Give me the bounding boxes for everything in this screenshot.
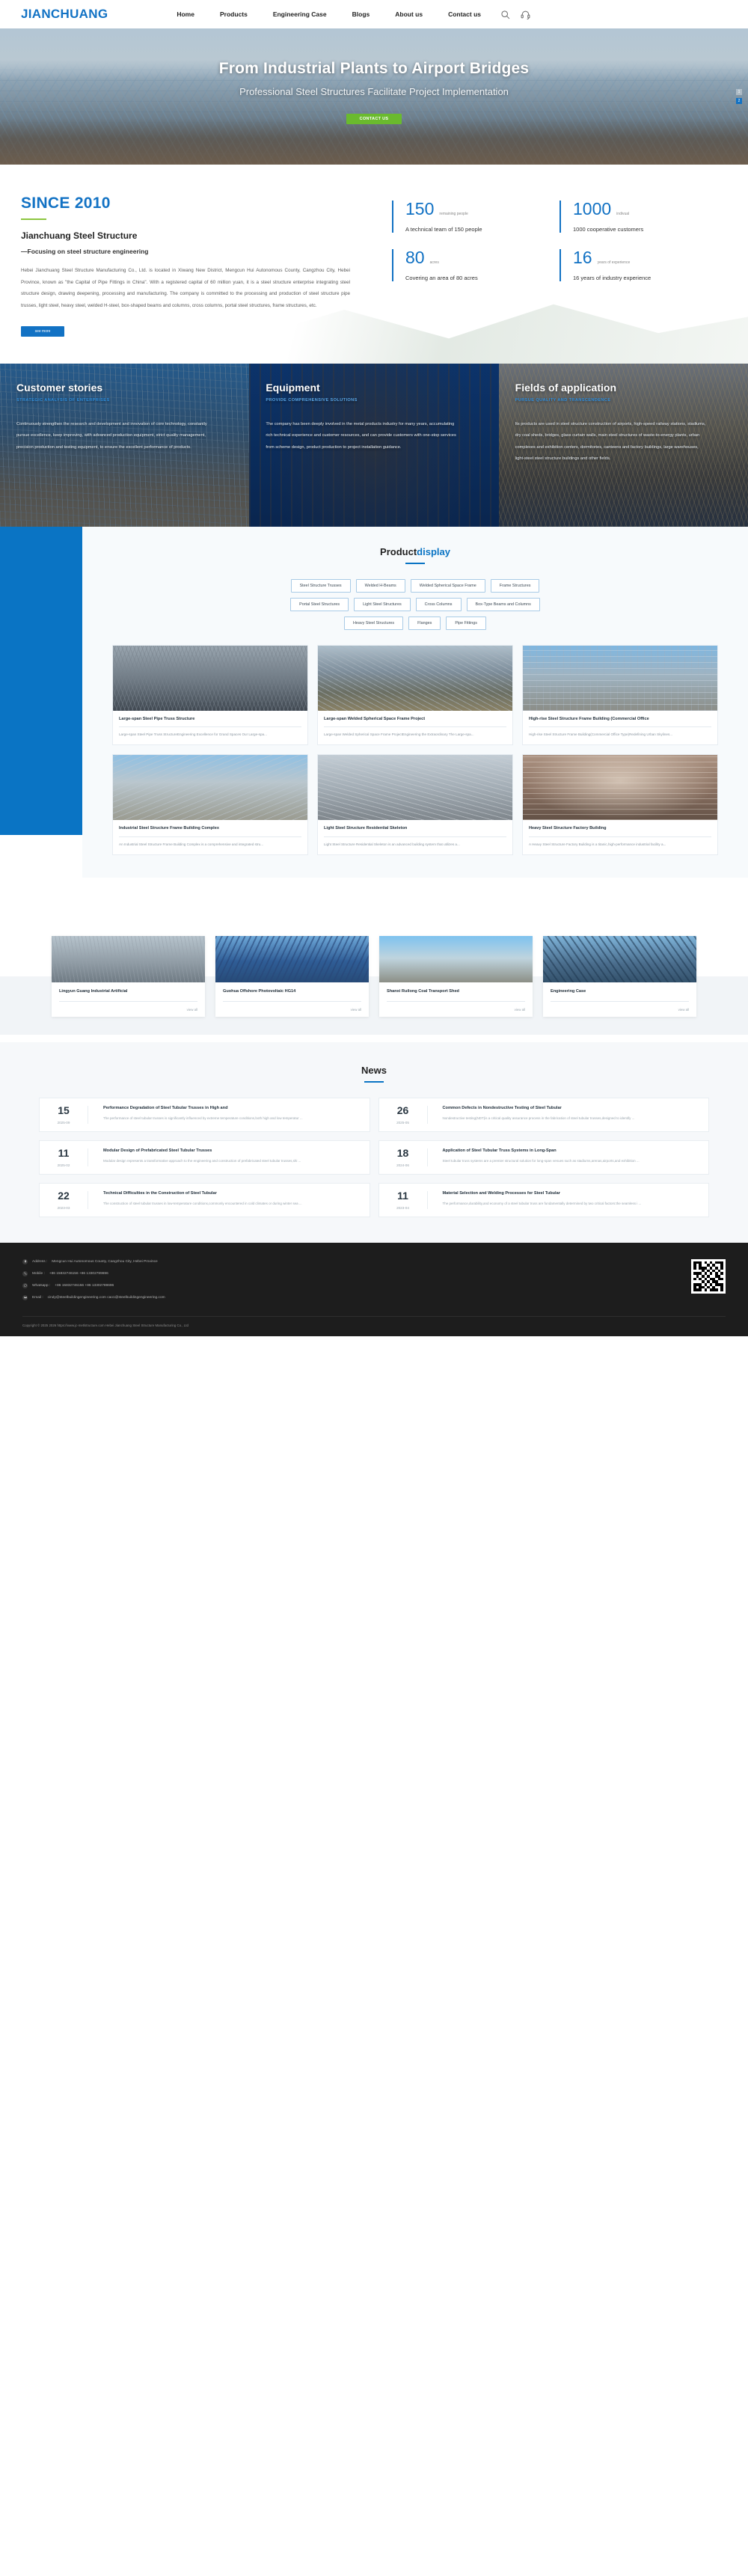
product-title-underline bbox=[405, 563, 425, 564]
stat-unit: acres bbox=[430, 260, 439, 265]
news-year-month: 2025-05 bbox=[387, 1121, 419, 1125]
envelope-icon bbox=[22, 1295, 28, 1300]
feature-card-customer-stories[interactable]: Customer stories STRATEGIC ANALYSIS OF E… bbox=[0, 364, 249, 527]
news-section: News 15 2025-09 Performance Degradation … bbox=[0, 1042, 748, 1243]
company-tagline: —Focusing on steel structure engineering bbox=[21, 248, 373, 255]
hero-subtitle: Professional Steel Structures Facilitate… bbox=[0, 86, 748, 97]
news-date: 15 2025-09 bbox=[48, 1105, 79, 1125]
footer-email-value[interactable]: cindy@steelbuildingengineering.com cao1@… bbox=[48, 1296, 165, 1300]
product-card[interactable]: Heavy Steel Structure Factory Building A… bbox=[522, 754, 718, 854]
news-date: 26 2025-05 bbox=[387, 1105, 419, 1125]
news-headline: Modular Design of Prefabricated Steel Tu… bbox=[103, 1148, 361, 1154]
nav-item-about-us[interactable]: About us bbox=[395, 10, 423, 18]
footer-whatsapp-label: Whatsapp : bbox=[32, 1284, 50, 1288]
tag-frame-structures[interactable]: Frame Structures bbox=[491, 579, 540, 593]
news-item[interactable]: 18 2024-06 Application of Steel Tubular … bbox=[378, 1140, 710, 1175]
product-card[interactable]: Large-span Welded Spherical Space Frame … bbox=[317, 645, 513, 745]
stat-item-area: 80 acres Covering an area of 80 acres bbox=[392, 249, 560, 281]
hero-content: From Industrial Plants to Airport Bridge… bbox=[0, 28, 748, 124]
hero-banner: From Industrial Plants to Airport Bridge… bbox=[0, 28, 748, 165]
nav-item-products[interactable]: Products bbox=[220, 10, 248, 18]
card-body: Its products are used in steel structure… bbox=[515, 419, 706, 465]
stat-item-customers: 1000 indivual 1000 cooperative customers bbox=[560, 201, 727, 233]
news-year-month: 2025-09 bbox=[48, 1121, 79, 1125]
divider bbox=[387, 1001, 525, 1002]
main-nav: Home Products Engineering Case Blogs Abo… bbox=[177, 10, 481, 18]
stats-grid: 150 remaining people A technical team of… bbox=[392, 201, 727, 281]
about-paragraph: Hebei Jianchuang Steel Structure Manufac… bbox=[21, 265, 350, 312]
case-name: Engineering Case bbox=[551, 989, 689, 994]
divider bbox=[551, 1001, 689, 1002]
hero-slide-1[interactable]: 1 bbox=[736, 89, 742, 95]
tag-welded-spherical-space-frame[interactable]: Welded Spherical Space Frame bbox=[411, 579, 485, 593]
divider bbox=[88, 1191, 88, 1209]
stat-description: A technical team of 150 people bbox=[405, 226, 560, 233]
card-body: Continuously strengthen the research and… bbox=[16, 419, 207, 453]
case-card[interactable]: Guohua Offshore Photovoltaic HG14 view a… bbox=[215, 936, 369, 1017]
divider bbox=[223, 1001, 361, 1002]
stat-number: 1000 bbox=[573, 201, 611, 218]
stat-description: 16 years of industry experience bbox=[573, 275, 727, 281]
header-icon-group bbox=[500, 10, 530, 19]
news-day: 18 bbox=[387, 1148, 419, 1158]
feature-card-fields-of-application[interactable]: Fields of application PURSUE QUALITY AND… bbox=[499, 364, 748, 527]
product-description: Large-span Welded Spherical Space Frame … bbox=[324, 732, 506, 738]
case-name: Guohua Offshore Photovoltaic HG14 bbox=[223, 989, 361, 994]
news-date: 18 2024-06 bbox=[387, 1148, 419, 1167]
hero-slide-indicators: 1 2 bbox=[736, 89, 742, 104]
news-headline: Common Defects in Nondestructive Testing… bbox=[443, 1105, 701, 1111]
news-grid: 15 2025-09 Performance Degradation of St… bbox=[0, 1098, 748, 1217]
tag-box-type-beams-and-columns[interactable]: Box-Type Beams and Columns bbox=[467, 598, 540, 611]
divider bbox=[88, 1106, 88, 1124]
news-excerpt: Steel tubular truss systems are a premie… bbox=[443, 1158, 701, 1164]
hero-slide-2[interactable]: 2 bbox=[736, 98, 742, 104]
tag-light-steel-structures[interactable]: Light Steel Structures bbox=[354, 598, 411, 611]
product-card[interactable]: Light Steel Structure Residential Skelet… bbox=[317, 754, 513, 854]
tag-steel-structure-trusses[interactable]: Steel Structure Trusses bbox=[291, 579, 351, 593]
news-date: 11 2025-02 bbox=[48, 1148, 79, 1167]
nav-item-blogs[interactable]: Blogs bbox=[352, 10, 370, 18]
product-card[interactable]: High-rise Steel Structure Frame Building… bbox=[522, 645, 718, 745]
case-image bbox=[215, 936, 369, 982]
product-filter-tags: Steel Structure Trusses Welded H-Beams W… bbox=[112, 579, 718, 630]
since-underline bbox=[21, 218, 46, 220]
news-year-month: 2023-03 bbox=[48, 1206, 79, 1210]
product-name: High-rise Steel Structure Frame Building… bbox=[529, 716, 711, 722]
card-title: Fields of application bbox=[515, 382, 732, 394]
cases-row: Lingyun Guang Industrial Artificial view… bbox=[0, 936, 748, 1017]
nav-item-engineering-case[interactable]: Engineering Case bbox=[273, 10, 327, 18]
product-image bbox=[523, 646, 717, 711]
about-text-column: SINCE 2010 Jianchuang Steel Structure —F… bbox=[21, 195, 373, 337]
divider bbox=[324, 726, 506, 727]
news-day: 15 bbox=[48, 1105, 79, 1116]
product-image bbox=[523, 755, 717, 820]
stat-number: 150 bbox=[405, 201, 434, 218]
case-image bbox=[543, 936, 696, 982]
tag-row-2: Portal Steel Structures Light Steel Stru… bbox=[290, 598, 540, 611]
news-excerpt: The performance,durability,and economy o… bbox=[443, 1201, 701, 1207]
product-image bbox=[318, 755, 512, 820]
product-card[interactable]: Large-span Steel Pipe Truss Structure La… bbox=[112, 645, 308, 745]
tag-portal-steel-structures[interactable]: Portal Steel Structures bbox=[290, 598, 349, 611]
news-item[interactable]: 26 2025-05 Common Defects in Nondestruct… bbox=[378, 1098, 710, 1132]
case-card[interactable]: Engineering Case view all bbox=[543, 936, 696, 1017]
engineering-cases-section: Lingyun Guang Industrial Artificial view… bbox=[0, 908, 748, 1042]
news-day: 26 bbox=[387, 1105, 419, 1116]
news-year-month: 2025-02 bbox=[48, 1163, 79, 1167]
news-day: 11 bbox=[387, 1190, 419, 1201]
news-title-underline bbox=[364, 1081, 384, 1083]
case-name: Shanxi Ruilong Coal Transport Shed bbox=[387, 989, 525, 994]
news-day: 11 bbox=[48, 1148, 79, 1158]
since-heading: SINCE 2010 bbox=[21, 195, 373, 212]
case-name: Lingyun Guang Industrial Artificial bbox=[59, 989, 197, 994]
tag-row-3: Heavy Steel Structures Flanges Pipe Fitt… bbox=[344, 617, 486, 630]
case-view-all-link[interactable]: view all bbox=[379, 1005, 533, 1017]
footer-address-label: Address : bbox=[32, 1260, 47, 1264]
location-pin-icon bbox=[22, 1259, 28, 1264]
news-item[interactable]: 11 2023-04 Material Selection and Weldin… bbox=[378, 1183, 710, 1217]
footer-address-line: Address : Mengcun Hui Autonomous County,… bbox=[22, 1259, 691, 1264]
news-date: 22 2023-03 bbox=[48, 1190, 79, 1210]
divider bbox=[119, 836, 301, 837]
news-date: 11 2023-04 bbox=[387, 1190, 419, 1210]
company-name: Jianchuang Steel Structure bbox=[21, 230, 373, 241]
site-header: JIANCHUANG Home Products Engineering Cas… bbox=[0, 0, 748, 28]
hero-title: From Industrial Plants to Airport Bridge… bbox=[0, 60, 748, 78]
tag-welded-h-beams[interactable]: Welded H-Beams bbox=[356, 579, 405, 593]
news-year-month: 2024-06 bbox=[387, 1163, 419, 1167]
footer-email-line: Email : cindy@steelbuildingengineering.c… bbox=[22, 1295, 691, 1300]
qr-code bbox=[691, 1259, 726, 1294]
divider bbox=[324, 836, 506, 837]
news-headline: Performance Degradation of Steel Tubular… bbox=[103, 1105, 361, 1111]
divider bbox=[427, 1106, 428, 1124]
headset-icon[interactable] bbox=[521, 10, 530, 19]
news-item[interactable]: 11 2025-02 Modular Design of Prefabricat… bbox=[39, 1140, 370, 1175]
divider bbox=[119, 726, 301, 727]
divider bbox=[529, 726, 711, 727]
product-title-part-a: Product bbox=[380, 546, 417, 557]
site-logo[interactable]: JIANCHUANG bbox=[21, 7, 108, 22]
divider bbox=[427, 1191, 428, 1209]
product-description: Large-span Steel Pipe Truss StructureEng… bbox=[119, 732, 301, 738]
divider bbox=[59, 1001, 197, 1002]
tag-cross-columns[interactable]: Cross Columns bbox=[416, 598, 462, 611]
tag-pipe-fittings[interactable]: Pipe Fittings bbox=[446, 617, 486, 630]
stat-unit: indivual bbox=[616, 212, 629, 216]
product-title-part-b: display bbox=[417, 546, 450, 557]
footer-email-label: Email : bbox=[32, 1296, 43, 1300]
product-card[interactable]: Industrial Steel Structure Frame Buildin… bbox=[112, 754, 308, 854]
case-view-all-link[interactable]: view all bbox=[543, 1005, 696, 1017]
stat-description: Covering an area of 80 acres bbox=[405, 275, 560, 281]
footer-mobile-label: Mobile : bbox=[32, 1272, 45, 1276]
card-subtitle: PURSUE QUALITY AND TRANSCENDENCE bbox=[515, 398, 732, 403]
product-grid: Large-span Steel Pipe Truss Structure La… bbox=[112, 645, 718, 855]
product-image bbox=[113, 646, 307, 711]
footer-address-value: Mengcun Hui Autonomous County, Cangzhou … bbox=[52, 1260, 157, 1264]
case-card[interactable]: Lingyun Guang Industrial Artificial view… bbox=[52, 936, 205, 1017]
stat-unit: years of experience bbox=[598, 260, 631, 265]
case-view-all-link[interactable]: view all bbox=[52, 1005, 205, 1017]
product-image bbox=[113, 755, 307, 820]
stat-number: 16 bbox=[573, 249, 592, 266]
product-description: Light Steel Structure Residential Skelet… bbox=[324, 842, 506, 848]
site-footer: Address : Mengcun Hui Autonomous County,… bbox=[0, 1243, 748, 1336]
card-body: The company has been deeply involved in … bbox=[266, 419, 456, 453]
stat-unit: remaining people bbox=[439, 212, 467, 216]
product-image bbox=[318, 646, 512, 711]
footer-mobile-value[interactable]: +86 15832746156 +86 13302789696 bbox=[49, 1272, 108, 1276]
nav-item-contact-us[interactable]: Contact us bbox=[448, 10, 481, 18]
feature-cards-section: Customer stories STRATEGIC ANALYSIS OF E… bbox=[0, 364, 748, 527]
case-view-all-link[interactable]: view all bbox=[215, 1005, 369, 1017]
footer-whatsapp-line: Whatsapp : +86 15832746156 +86 133027896… bbox=[22, 1283, 691, 1288]
product-display-title: Productdisplay bbox=[112, 546, 718, 557]
news-excerpt: Modular design represents a transformati… bbox=[103, 1158, 361, 1164]
footer-copyright: Copyright © 2025 2026 https://www.jc-met… bbox=[22, 1316, 726, 1327]
product-description: High-rise Steel Structure Frame Building… bbox=[529, 732, 711, 738]
product-name: Light Steel Structure Residential Skelet… bbox=[324, 825, 506, 831]
news-excerpt: Nondestructive testing(NDT)is a critical… bbox=[443, 1116, 701, 1122]
whatsapp-icon bbox=[22, 1283, 28, 1288]
about-stats-column: 150 remaining people A technical team of… bbox=[373, 195, 727, 337]
see-more-button[interactable]: see more bbox=[21, 326, 64, 337]
news-day: 22 bbox=[48, 1190, 79, 1201]
news-year-month: 2023-04 bbox=[387, 1206, 419, 1210]
nav-item-home[interactable]: Home bbox=[177, 10, 194, 18]
about-section: SINCE 2010 Jianchuang Steel Structure —F… bbox=[0, 165, 748, 364]
case-image bbox=[379, 936, 533, 982]
card-title: Customer stories bbox=[16, 382, 233, 394]
divider bbox=[427, 1148, 428, 1166]
news-title: News bbox=[0, 1065, 748, 1076]
stat-item-team: 150 remaining people A technical team of… bbox=[392, 201, 560, 233]
news-headline: Application of Steel Tubular Truss Syste… bbox=[443, 1148, 701, 1154]
news-excerpt: The performance of steel tubular trusses… bbox=[103, 1116, 361, 1122]
footer-mobile-line: Mobile : +86 15832746156 +86 13302789696 bbox=[22, 1271, 691, 1276]
product-blue-accent bbox=[0, 527, 82, 835]
product-description: An Industrial Steel Structure Frame Buil… bbox=[119, 842, 301, 848]
feature-card-equipment[interactable]: Equipment PROVIDE COMPREHENSIVE SOLUTION… bbox=[249, 364, 498, 527]
phone-icon bbox=[22, 1271, 28, 1276]
tag-heavy-steel-structures[interactable]: Heavy Steel Structures bbox=[344, 617, 403, 630]
product-name: Large-span Welded Spherical Space Frame … bbox=[324, 716, 506, 722]
divider bbox=[88, 1148, 88, 1166]
footer-whatsapp-value[interactable]: +86 15832746156 +86 13302789696 bbox=[55, 1284, 114, 1288]
stat-item-experience: 16 years of experience 16 years of indus… bbox=[560, 249, 727, 281]
case-image bbox=[52, 936, 205, 982]
card-title: Equipment bbox=[266, 382, 482, 394]
footer-contact-list: Address : Mengcun Hui Autonomous County,… bbox=[22, 1259, 691, 1307]
product-name: Industrial Steel Structure Frame Buildin… bbox=[119, 825, 301, 831]
news-headline: Material Selection and Welding Processes… bbox=[443, 1190, 701, 1196]
contact-us-button[interactable]: CONTACT US bbox=[346, 114, 402, 124]
card-subtitle: PROVIDE COMPREHENSIVE SOLUTIONS bbox=[266, 398, 482, 403]
divider bbox=[529, 836, 711, 837]
tag-flanges[interactable]: Flanges bbox=[408, 617, 441, 630]
news-headline: Technical Difficulties in the Constructi… bbox=[103, 1190, 361, 1196]
stat-number: 80 bbox=[405, 249, 425, 266]
news-item[interactable]: 15 2025-09 Performance Degradation of St… bbox=[39, 1098, 370, 1132]
product-name: Large-span Steel Pipe Truss Structure bbox=[119, 716, 301, 722]
product-display-section: Productdisplay Steel Structure Trusses W… bbox=[0, 527, 748, 908]
search-icon[interactable] bbox=[500, 10, 510, 19]
case-card[interactable]: Shanxi Ruilong Coal Transport Shed view … bbox=[379, 936, 533, 1017]
news-excerpt: The construction of steel tubular trusse… bbox=[103, 1201, 361, 1207]
stat-description: 1000 cooperative customers bbox=[573, 226, 727, 233]
news-item[interactable]: 22 2023-03 Technical Difficulties in the… bbox=[39, 1183, 370, 1217]
tag-row-1: Steel Structure Trusses Welded H-Beams W… bbox=[291, 579, 540, 593]
product-description: A Heavy Steel Structure Factory Building… bbox=[529, 842, 711, 848]
card-subtitle: STRATEGIC ANALYSIS OF ENTERPRISES bbox=[16, 398, 233, 403]
product-name: Heavy Steel Structure Factory Building bbox=[529, 825, 711, 831]
